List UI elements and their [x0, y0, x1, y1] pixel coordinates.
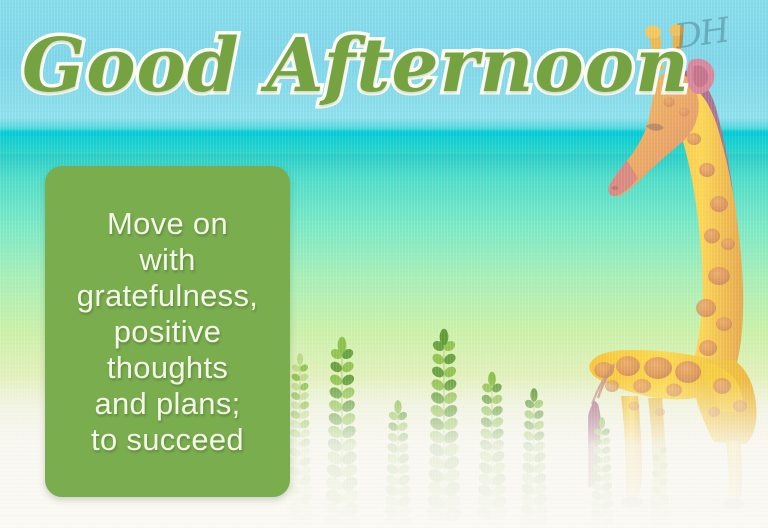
giraffe-nostril [612, 186, 618, 190]
quote-text: Move on with gratefulness, positive thou… [69, 206, 266, 458]
quote-box: Move on with gratefulness, positive thou… [45, 166, 290, 497]
page-title: Good Afternoon [22, 14, 622, 118]
greeting-card: Good Afternoon Move on with gratefulness… [0, 0, 768, 528]
